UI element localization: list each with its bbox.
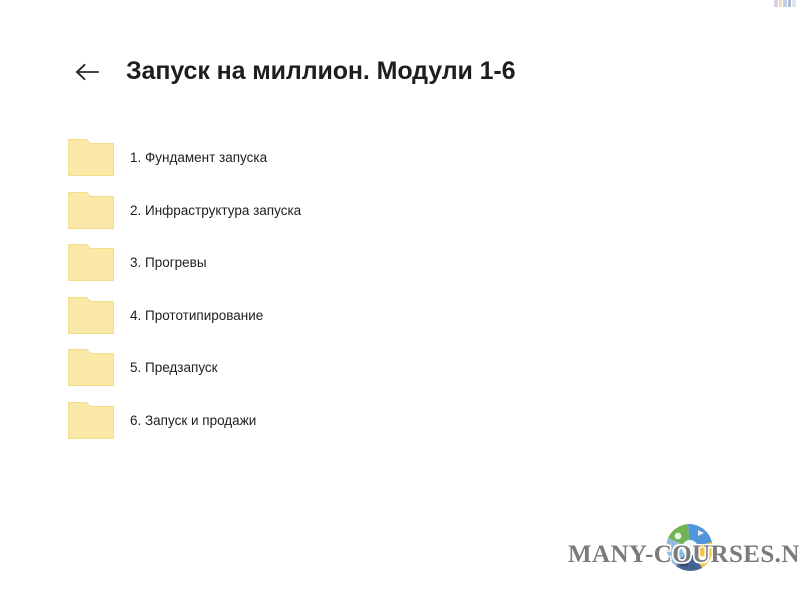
strip-segment-1 [774, 0, 778, 7]
strip-segment-3 [783, 0, 787, 7]
folder-icon [68, 138, 114, 177]
arrow-left-icon [74, 62, 100, 82]
folder-label: 6. Запуск и продажи [130, 413, 256, 430]
folder-label: 5. Предзапуск [130, 360, 218, 377]
list-item[interactable]: 1. Фундамент запуска [0, 138, 800, 191]
cut-off-color-strip [774, 0, 796, 7]
folder-icon [68, 243, 114, 282]
watermark: MANY-COURSES.NET [568, 512, 800, 588]
list-item[interactable]: 4. Прототипирование [0, 296, 800, 349]
watermark-text: MANY-COURSES.NET [568, 541, 800, 569]
folder-label: 4. Прототипирование [130, 308, 263, 325]
strip-segment-5 [792, 0, 796, 7]
list-item[interactable]: 2. Инфраструктура запуска [0, 191, 800, 244]
folder-icon [68, 348, 114, 387]
folder-icon [68, 296, 114, 335]
back-button[interactable] [66, 51, 108, 93]
page-header: Запуск на миллион. Модули 1-6 [0, 46, 800, 98]
list-item[interactable]: 5. Предзапуск [0, 348, 800, 401]
list-item[interactable]: 3. Прогревы [0, 243, 800, 296]
folder-label: 3. Прогревы [130, 255, 207, 272]
folder-label: 1. Фундамент запуска [130, 150, 267, 167]
folder-icon [68, 191, 114, 230]
folder-icon [68, 401, 114, 440]
page-title: Запуск на миллион. Модули 1-6 [126, 58, 515, 86]
strip-segment-2 [779, 0, 783, 7]
list-item[interactable]: 6. Запуск и продажи [0, 401, 800, 454]
folder-list: 1. Фундамент запуска 2. Инфраструктура з… [0, 138, 800, 454]
many-courses-circular-logo [658, 516, 722, 580]
strip-segment-4 [788, 0, 792, 7]
folder-label: 2. Инфраструктура запуска [130, 203, 301, 220]
